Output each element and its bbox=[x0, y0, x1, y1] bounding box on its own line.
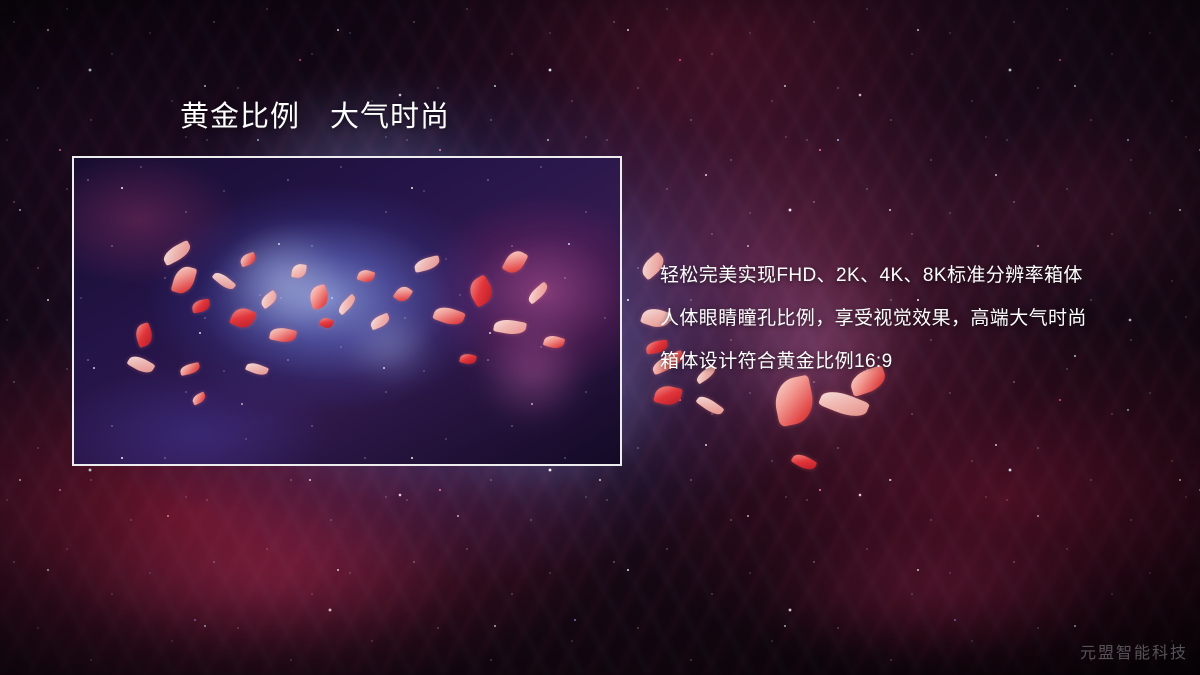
page-title: 黄金比例 大气时尚 bbox=[180, 101, 450, 134]
petal-decoration bbox=[695, 393, 724, 418]
presentation-slide: 黄金比例 大气时尚 轻松完美实现FHD、2K、4K、8K标准分辨率箱体 人体眼睛… bbox=[0, 0, 1200, 675]
petal-decoration bbox=[653, 383, 683, 408]
petal-decoration bbox=[791, 451, 818, 473]
description-line: 轻松完美实现FHD、2K、4K、8K标准分辨率箱体 bbox=[660, 254, 1180, 297]
description-block: 轻松完美实现FHD、2K、4K、8K标准分辨率箱体 人体眼睛瞳孔比例，享受视觉效… bbox=[660, 254, 1180, 383]
description-line: 人体眼睛瞳孔比例，享受视觉效果，高端大气时尚 bbox=[660, 297, 1180, 340]
description-line: 箱体设计符合黄金比例16:9 bbox=[660, 340, 1180, 383]
inner-nebula-wisps bbox=[74, 158, 620, 464]
watermark-logo-text: 元盟智能科技 bbox=[1080, 639, 1188, 663]
framed-product-image bbox=[72, 156, 622, 466]
